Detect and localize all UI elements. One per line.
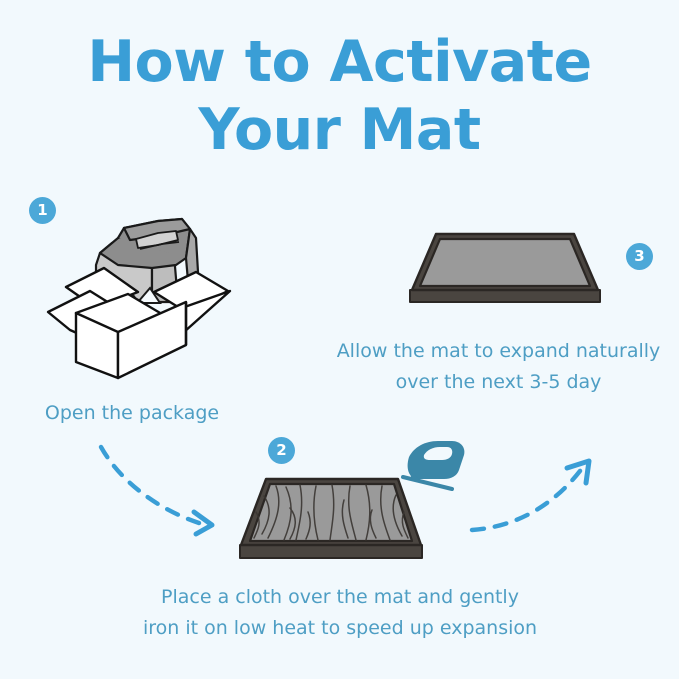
infographic-canvas: How to Activate Your Mat [0,0,679,679]
cardboard-box-icon [48,219,230,378]
flat-mat-icon [410,234,600,302]
step-badge-1[interactable]: 1 [29,197,56,224]
step-badge-2[interactable]: 2 [268,437,295,464]
arrow-step2-to-step3 [472,461,589,530]
wrinkled-mat-icon [240,479,422,558]
step-2-caption-line-1: Place a cloth over the mat and gently [110,582,570,613]
step-3-caption: Allow the mat to expand naturally over t… [318,336,679,398]
step-badge-3[interactable]: 3 [626,243,653,270]
step-2-caption: Place a cloth over the mat and gently ir… [110,582,570,644]
step-2-caption-line-2: iron it on low heat to speed up expansio… [110,613,570,644]
step-3-caption-line-1: Allow the mat to expand naturally [318,336,679,367]
step-1-caption-line-1: Open the package [0,398,264,429]
arrow-step1-to-step2 [101,447,212,534]
iron-icon [403,441,464,489]
step-1-caption: Open the package [0,398,264,429]
step-3-caption-line-2: over the next 3-5 day [318,367,679,398]
